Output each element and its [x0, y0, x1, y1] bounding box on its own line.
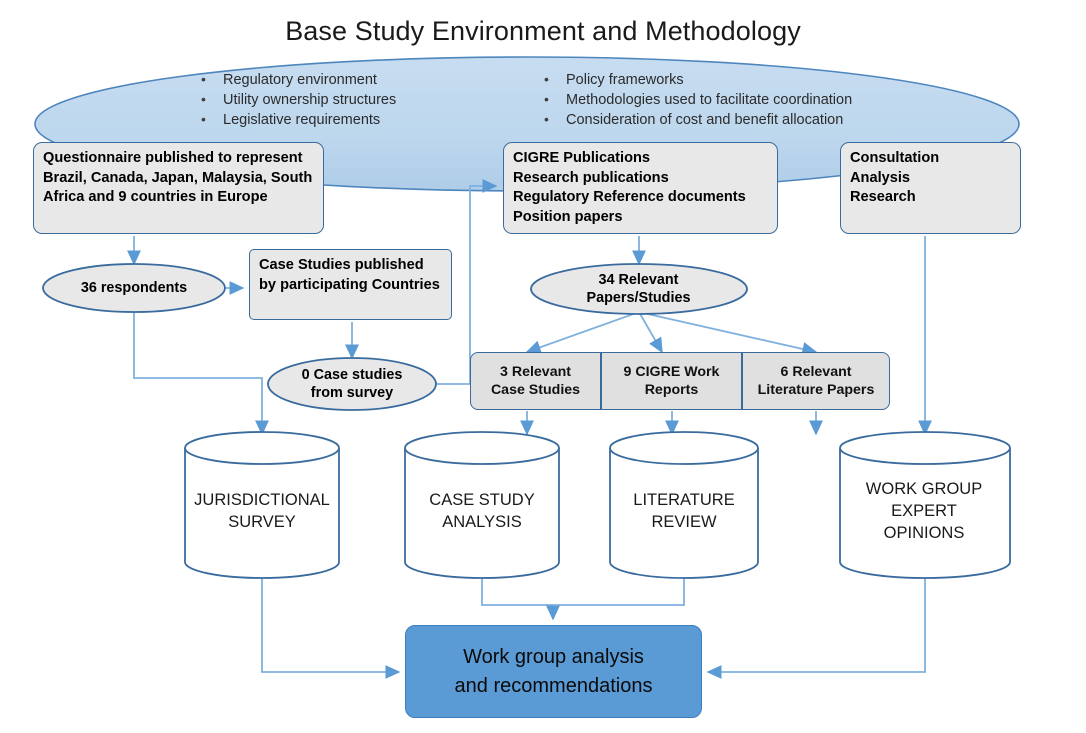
label-work-group-expert-opinions: WORK GROUP EXPERT OPINIONS: [838, 462, 1010, 560]
context-bullets-left: Regulatory environment Utility ownership…: [197, 70, 396, 130]
label-work-group-analysis: Work group analysis and recommendations: [405, 625, 702, 718]
bullet-item: Legislative requirements: [197, 110, 396, 130]
bullet-item: Policy frameworks: [540, 70, 852, 90]
bullet-item: Methodologies used to facilitate coordin…: [540, 90, 852, 110]
bullet-item: Utility ownership structures: [197, 90, 396, 110]
bullet-item: Regulatory environment: [197, 70, 396, 90]
label-jurisdictional-survey: JURISDICTIONAL SURVEY: [182, 462, 342, 560]
bullet-item: Consideration of cost and benefit alloca…: [540, 110, 852, 130]
box-relevant-literature-papers[interactable]: 6 Relevant Literature Papers: [742, 352, 890, 410]
box-cigre-work-reports[interactable]: 9 CIGRE Work Reports: [601, 352, 742, 410]
label-case-studies-from-survey: 0 Case studies from survey: [271, 362, 433, 406]
box-relevant-case-studies[interactable]: 3 Relevant Case Studies: [470, 352, 601, 410]
label-relevant-papers: 34 Relevant Papers/Studies: [531, 267, 746, 311]
diagram-canvas: Base Study Environment and Methodology R…: [0, 0, 1086, 733]
label-respondents: 36 respondents: [44, 268, 224, 308]
context-bullets-right: Policy frameworks Methodologies used to …: [540, 70, 852, 130]
label-literature-review: LITERATURE REVIEW: [608, 462, 760, 560]
page-title: Base Study Environment and Methodology: [0, 16, 1086, 47]
box-questionnaire[interactable]: Questionnaire published to represent Bra…: [33, 142, 324, 234]
box-case-studies-published[interactable]: Case Studies published by participating …: [249, 249, 452, 320]
box-consultation[interactable]: Consultation Analysis Research: [840, 142, 1021, 234]
box-publications[interactable]: CIGRE Publications Research publications…: [503, 142, 778, 234]
label-case-study-analysis: CASE STUDY ANALYSIS: [402, 462, 562, 560]
